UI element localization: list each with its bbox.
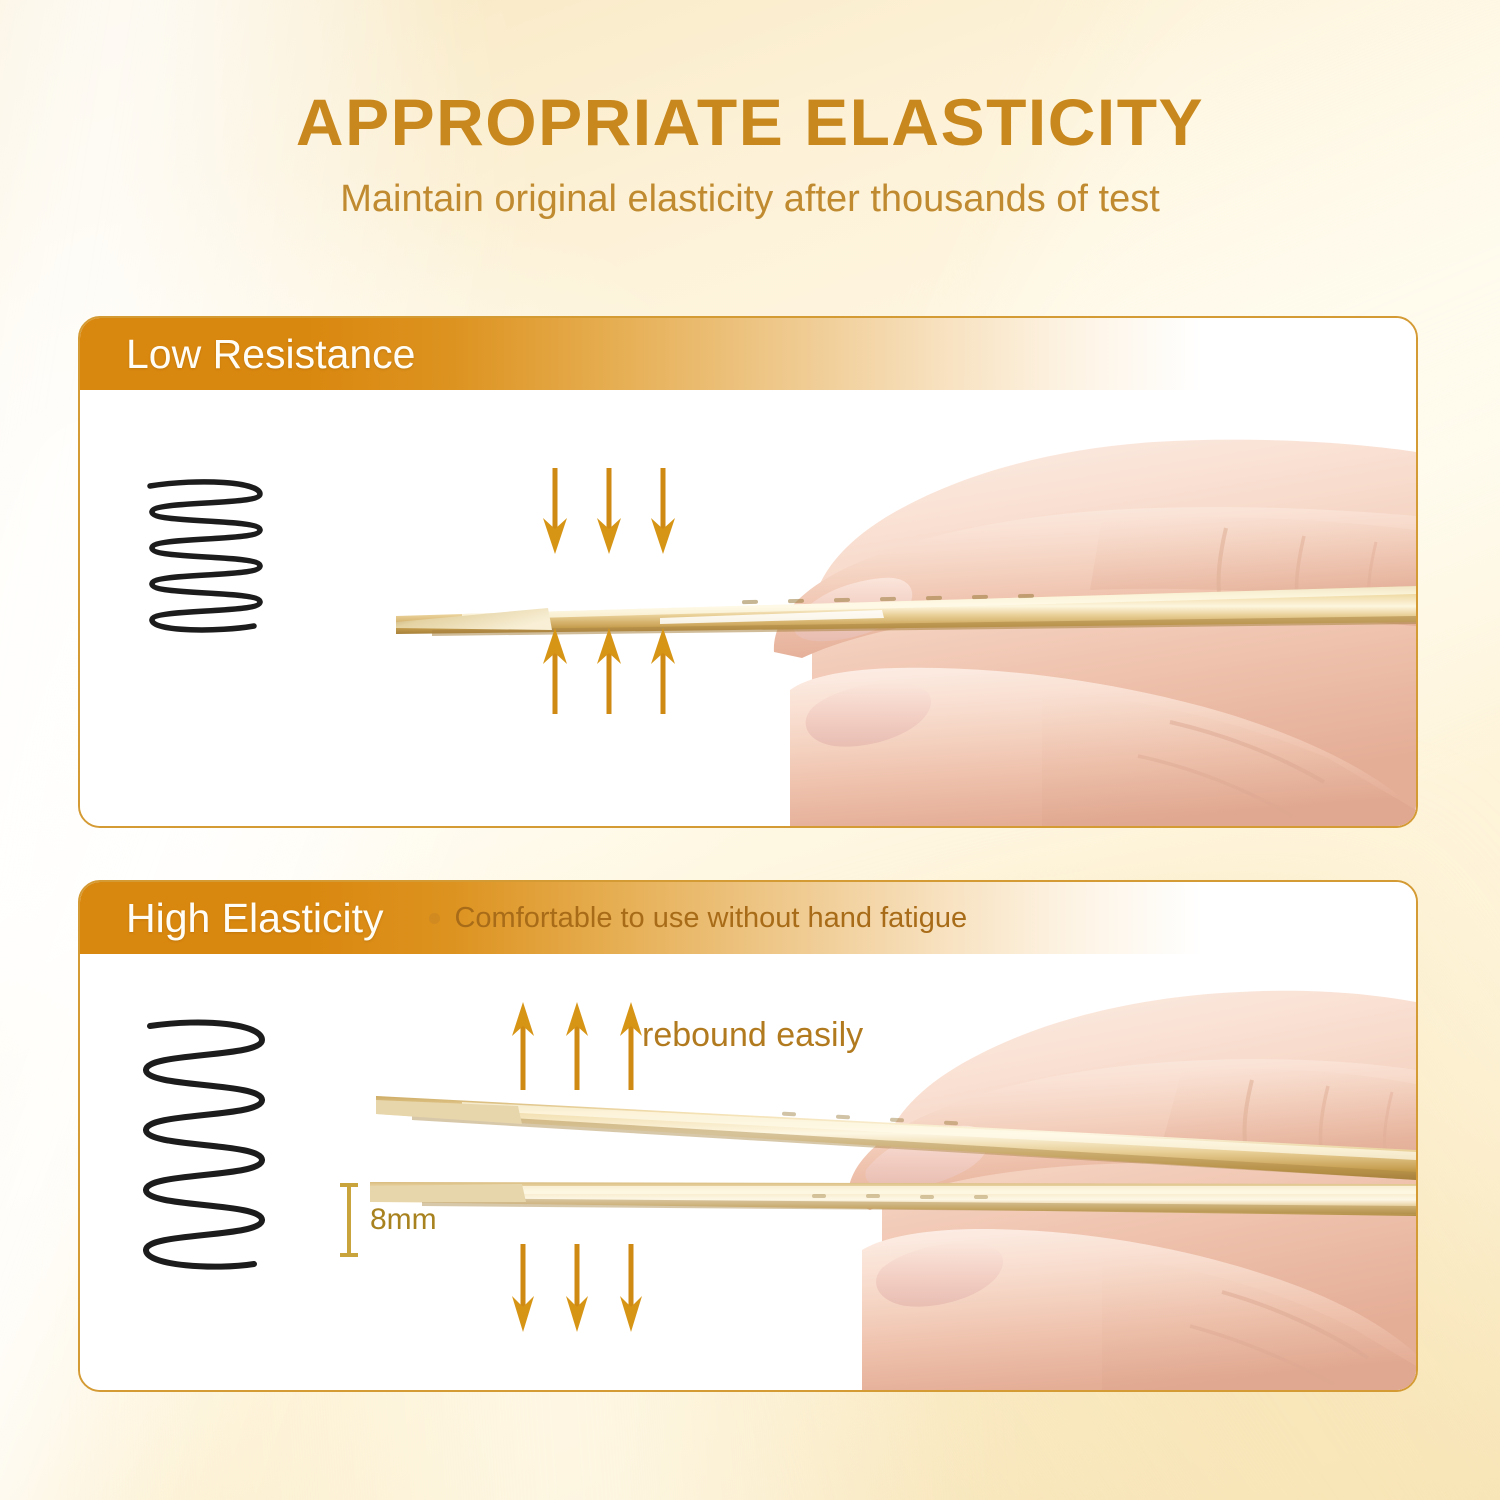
dimension-label: 8mm [370, 1203, 437, 1237]
compressed-spring-icon [128, 472, 278, 652]
arrow-down-icon [564, 1244, 590, 1332]
extended-spring-icon [120, 1016, 280, 1279]
arrow-up-icon [596, 628, 622, 714]
card-low-resistance: Low Resistance [78, 316, 1418, 828]
card-body-high-elasticity: 8mm rebound easily [80, 954, 1416, 1392]
arrow-up-icon [650, 628, 676, 714]
arrow-down-icon [650, 468, 676, 554]
arrows-up-group [510, 1002, 644, 1090]
arrows-down-group [542, 468, 676, 554]
rebound-easily-label: rebound easily [642, 1016, 863, 1055]
dimension-bar-icon [338, 1182, 360, 1258]
card-title-high-elasticity: High Elasticity [126, 895, 383, 942]
card-title-low-resistance: Low Resistance [126, 331, 415, 378]
card-header-low-resistance: Low Resistance [80, 318, 1416, 390]
card-note-text: Comfortable to use without hand fatigue [454, 902, 967, 935]
arrow-up-icon [564, 1002, 590, 1090]
page-header: APPROPRIATE ELASTICITY Maintain original… [0, 88, 1500, 221]
arrow-down-icon [542, 468, 568, 554]
page-title: APPROPRIATE ELASTICITY [0, 88, 1500, 157]
bullet-dot-icon [429, 913, 440, 924]
arrow-up-icon [510, 1002, 536, 1090]
dimension-8mm: 8mm [338, 1182, 437, 1258]
photo-hand-with-open-tweezers [342, 954, 1416, 1392]
photo-hand-with-closed-tweezers [342, 390, 1416, 828]
card-high-elasticity: High Elasticity Comfortable to use witho… [78, 880, 1418, 1392]
arrows-down-group [510, 1244, 644, 1332]
card-body-low-resistance [80, 390, 1416, 828]
page-subtitle: Maintain original elasticity after thous… [0, 179, 1500, 221]
card-note-high-elasticity: Comfortable to use without hand fatigue [429, 902, 967, 935]
arrows-up-group [542, 628, 676, 714]
arrow-down-icon [596, 468, 622, 554]
infographic-page: APPROPRIATE ELASTICITY Maintain original… [0, 0, 1500, 1500]
arrow-up-icon [618, 1002, 644, 1090]
arrow-up-icon [542, 628, 568, 714]
arrow-down-icon [618, 1244, 644, 1332]
arrow-down-icon [510, 1244, 536, 1332]
card-header-high-elasticity: High Elasticity Comfortable to use witho… [80, 882, 1416, 954]
